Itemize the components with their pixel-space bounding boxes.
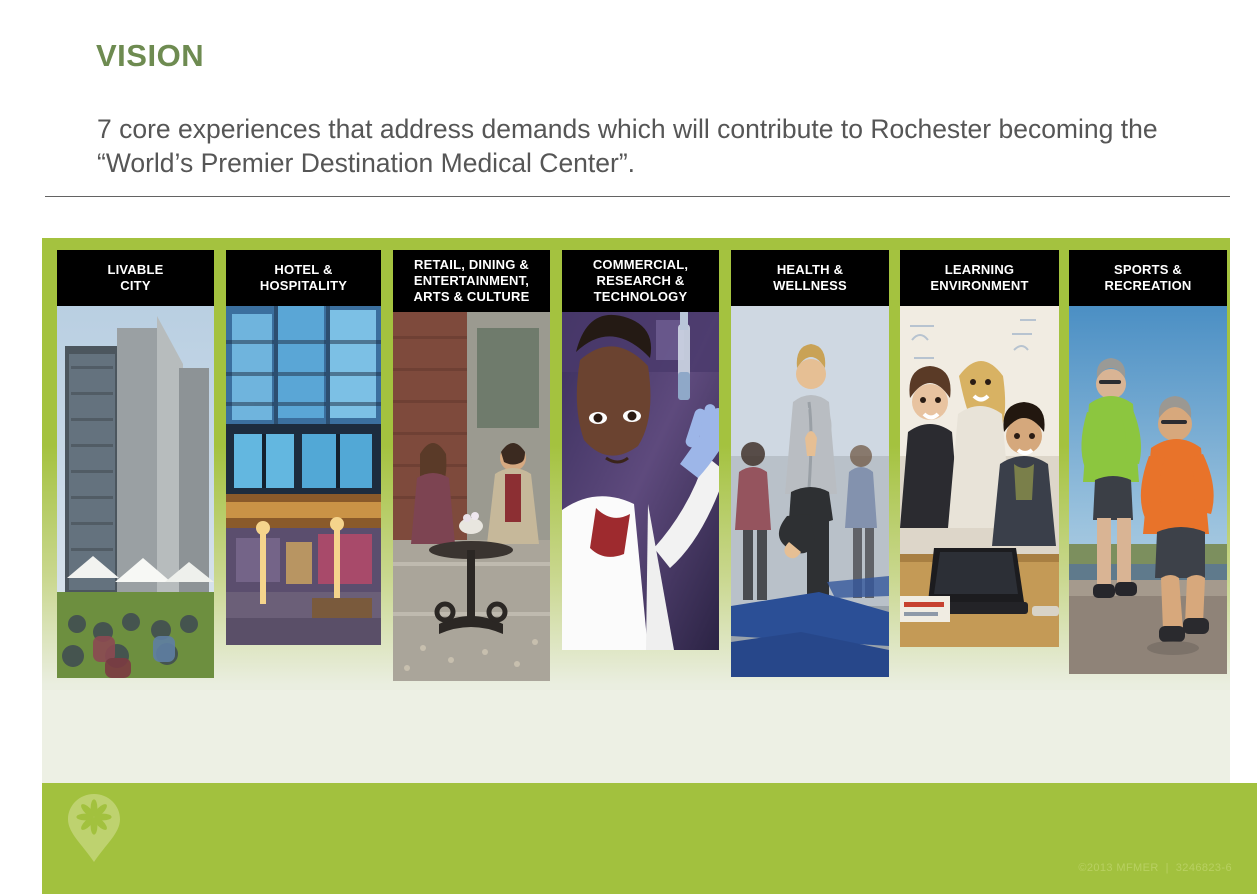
category-header-learning-environment: LEARNINGENVIRONMENT [900,250,1059,306]
category-image-sports-recreation [1069,306,1227,674]
category-column-livable-city[interactable]: LIVABLECITY [57,250,214,678]
category-header-retail-dining: RETAIL, DINING &ENTERTAINMENT,ARTS & CUL… [393,250,550,312]
title-divider [45,196,1230,197]
category-image-commercial-research [562,312,719,650]
category-header-hotel-hospitality: HOTEL &HOSPITALITY [226,250,381,306]
category-column-sports-recreation[interactable]: SPORTS &RECREATION [1069,250,1227,674]
category-image-retail-dining [393,312,550,681]
category-header-commercial-research: COMMERCIAL,RESEARCH &TECHNOLOGY [562,250,719,312]
category-image-learning-environment [900,306,1059,647]
category-column-commercial-research[interactable]: COMMERCIAL,RESEARCH &TECHNOLOGY [562,250,719,650]
mayo-clinic-pin-logo [66,792,122,864]
category-column-hotel-hospitality[interactable]: HOTEL &HOSPITALITY [226,250,381,645]
category-column-retail-dining[interactable]: RETAIL, DINING &ENTERTAINMENT,ARTS & CUL… [393,250,550,681]
category-header-health-wellness: HEALTH &WELLNESS [731,250,889,306]
category-column-health-wellness[interactable]: HEALTH &WELLNESS [731,250,889,677]
category-image-livable-city [57,306,214,678]
slide-subtitle: 7 core experiences that address demands … [97,112,1217,180]
copyright-text: ©2013 MFMER | 3246823-6 [1078,862,1232,874]
category-column-learning-environment[interactable]: LEARNINGENVIRONMENT [900,250,1059,647]
category-image-health-wellness [731,306,889,677]
category-header-livable-city: LIVABLECITY [57,250,214,306]
category-header-sports-recreation: SPORTS &RECREATION [1069,250,1227,306]
footer-bar: ©2013 MFMER | 3246823-6 [42,783,1257,894]
content-band-lower [42,690,1230,783]
category-image-hotel-hospitality [226,306,381,645]
page-title: VISION [96,38,204,74]
